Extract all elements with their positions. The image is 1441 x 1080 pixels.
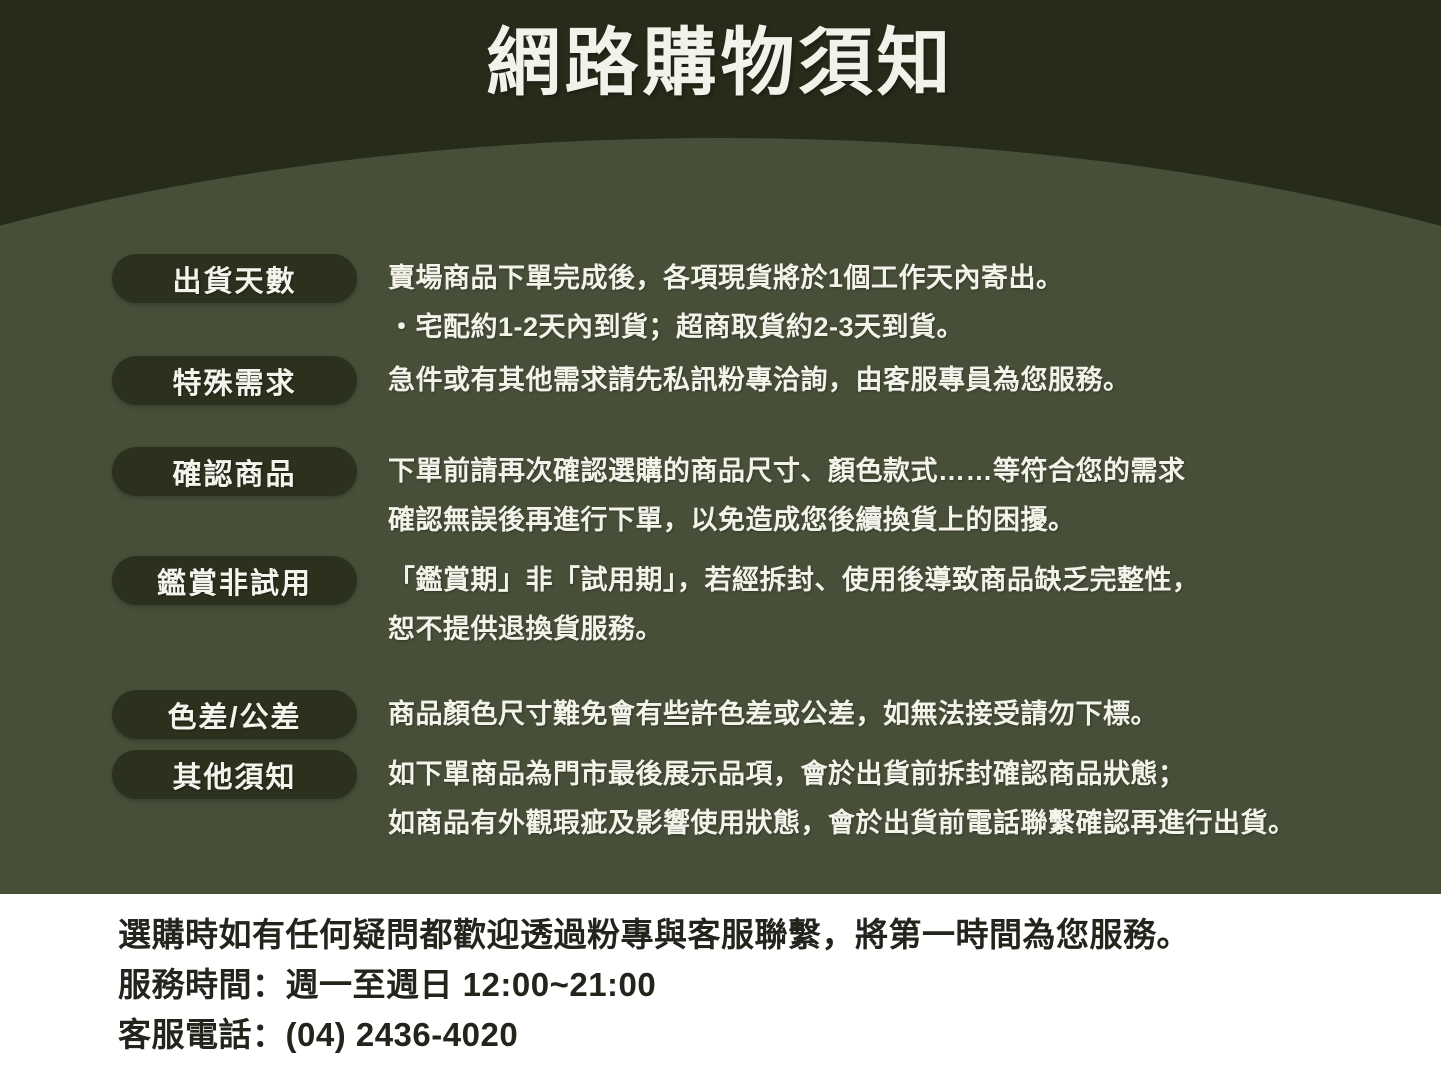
notice-line: ・宅配約1-2天內到貨；超商取貨約2-3天到貨。 (388, 303, 1064, 352)
notice-label-badge: 出貨天數 (112, 254, 357, 303)
notice-label-badge: 色差/公差 (112, 690, 357, 739)
notice-row: 確認商品 下單前請再次確認選購的商品尺寸、顏色款式……等符合您的需求 確認無誤後… (112, 447, 1432, 545)
notice-row: 鑑賞非試用 「鑑賞期」非「試用期」，若經拆封、使用後導致商品缺乏完整性， 恕不提… (112, 556, 1432, 654)
footer-line-phone: 客服電話：(04) 2436-4020 (118, 1010, 1190, 1060)
notice-body: 商品顏色尺寸難免會有些許色差或公差，如無法接受請勿下標。 (388, 690, 1158, 739)
notice-row: 特殊需求 急件或有其他需求請先私訊粉專洽詢，由客服專員為您服務。 (112, 356, 1432, 405)
notice-label-badge: 確認商品 (112, 447, 357, 496)
notice-body: 「鑑賞期」非「試用期」，若經拆封、使用後導致商品缺乏完整性， 恕不提供退換貨服務… (388, 556, 1200, 654)
notice-line: 「鑑賞期」非「試用期」，若經拆封、使用後導致商品缺乏完整性， (388, 556, 1200, 605)
notice-line: 確認無誤後再進行下單，以免造成您後續換貨上的困擾。 (388, 496, 1186, 545)
contact-footer-text: 選購時如有任何疑問都歡迎透過粉專與客服聯繫，將第一時間為您服務。 服務時間：週一… (118, 910, 1190, 1060)
notice-line: 商品顏色尺寸難免會有些許色差或公差，如無法接受請勿下標。 (388, 690, 1158, 739)
notice-body: 賣場商品下單完成後，各項現貨將於1個工作天內寄出。 ・宅配約1-2天內到貨；超商… (388, 254, 1064, 352)
notice-row: 出貨天數 賣場商品下單完成後，各項現貨將於1個工作天內寄出。 ・宅配約1-2天內… (112, 254, 1432, 352)
contact-footer: 選購時如有任何疑問都歡迎透過粉專與客服聯繫，將第一時間為您服務。 服務時間：週一… (0, 894, 1441, 1080)
notice-row: 其他須知 如下單商品為門市最後展示品項，會於出貨前拆封確認商品狀態； 如商品有外… (112, 750, 1432, 848)
notice-label-badge: 特殊需求 (112, 356, 357, 405)
notice-row: 色差/公差 商品顏色尺寸難免會有些許色差或公差，如無法接受請勿下標。 (112, 690, 1432, 739)
notice-body: 如下單商品為門市最後展示品項，會於出貨前拆封確認商品狀態； 如商品有外觀瑕疵及影… (388, 750, 1296, 848)
notice-rows: 出貨天數 賣場商品下單完成後，各項現貨將於1個工作天內寄出。 ・宅配約1-2天內… (0, 0, 1441, 894)
notice-line: 如下單商品為門市最後展示品項，會於出貨前拆封確認商品狀態； (388, 750, 1296, 799)
notice-line: 賣場商品下單完成後，各項現貨將於1個工作天內寄出。 (388, 254, 1064, 303)
notice-line: 恕不提供退換貨服務。 (388, 605, 1200, 654)
notice-label-badge: 其他須知 (112, 750, 357, 799)
notice-line: 如商品有外觀瑕疵及影響使用狀態，會於出貨前電話聯繫確認再進行出貨。 (388, 799, 1296, 848)
notice-line: 急件或有其他需求請先私訊粉專洽詢，由客服專員為您服務。 (388, 356, 1131, 405)
notice-label-badge: 鑑賞非試用 (112, 556, 357, 605)
notice-body: 急件或有其他需求請先私訊粉專洽詢，由客服專員為您服務。 (388, 356, 1131, 405)
notice-body: 下單前請再次確認選購的商品尺寸、顏色款式……等符合您的需求 確認無誤後再進行下單… (388, 447, 1186, 545)
footer-line-contact: 選購時如有任何疑問都歡迎透過粉專與客服聯繫，將第一時間為您服務。 (118, 910, 1190, 960)
notice-line: 下單前請再次確認選購的商品尺寸、顏色款式……等符合您的需求 (388, 447, 1186, 496)
footer-line-hours: 服務時間：週一至週日 12:00~21:00 (118, 960, 1190, 1010)
